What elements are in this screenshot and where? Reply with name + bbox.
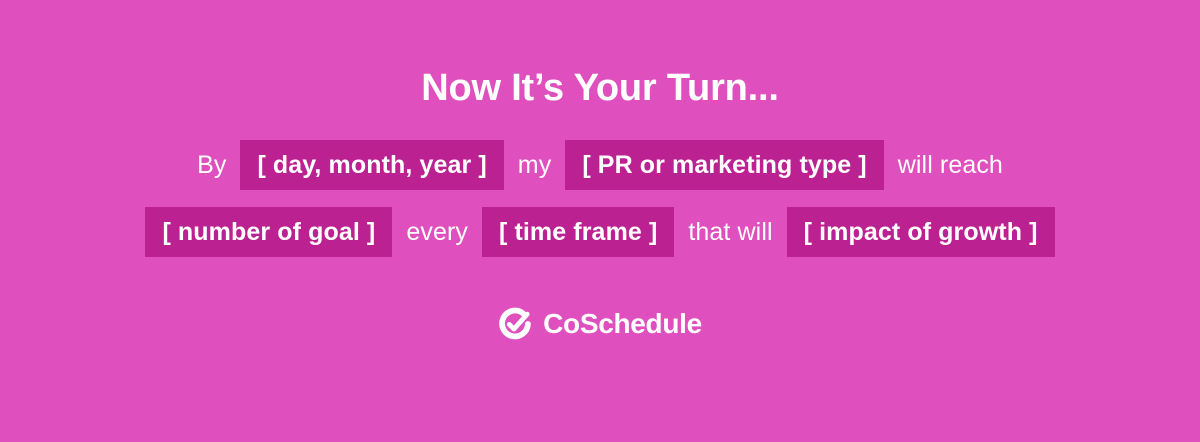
statement-word-that-will: that will [674, 207, 786, 257]
statement-line-2: [ number of goal ] every [ time frame ] … [145, 207, 1054, 257]
blank-number-of-goal[interactable]: [ number of goal ] [145, 207, 392, 257]
statement-word-by: By [197, 140, 240, 190]
fill-in-the-blank-statement: By [ day, month, year ] my [ PR or marke… [0, 140, 1200, 257]
page-title: Now It’s Your Turn... [421, 68, 779, 110]
slide-canvas: Now It’s Your Turn... By [ day, month, y… [0, 0, 1200, 442]
statement-word-my: my [504, 140, 566, 190]
blank-pr-or-marketing-type[interactable]: [ PR or marketing type ] [565, 140, 883, 190]
coschedule-logo: CoSchedule [498, 307, 702, 341]
statement-line-1: By [ day, month, year ] my [ PR or marke… [197, 140, 1003, 190]
blank-time-frame[interactable]: [ time frame ] [482, 207, 674, 257]
coschedule-check-circle-icon [498, 307, 532, 341]
coschedule-wordmark: CoSchedule [543, 310, 702, 338]
blank-day-month-year[interactable]: [ day, month, year ] [240, 140, 503, 190]
blank-impact-of-growth[interactable]: [ impact of growth ] [787, 207, 1055, 257]
statement-word-will-reach: will reach [884, 140, 1003, 190]
statement-word-every: every [392, 207, 482, 257]
